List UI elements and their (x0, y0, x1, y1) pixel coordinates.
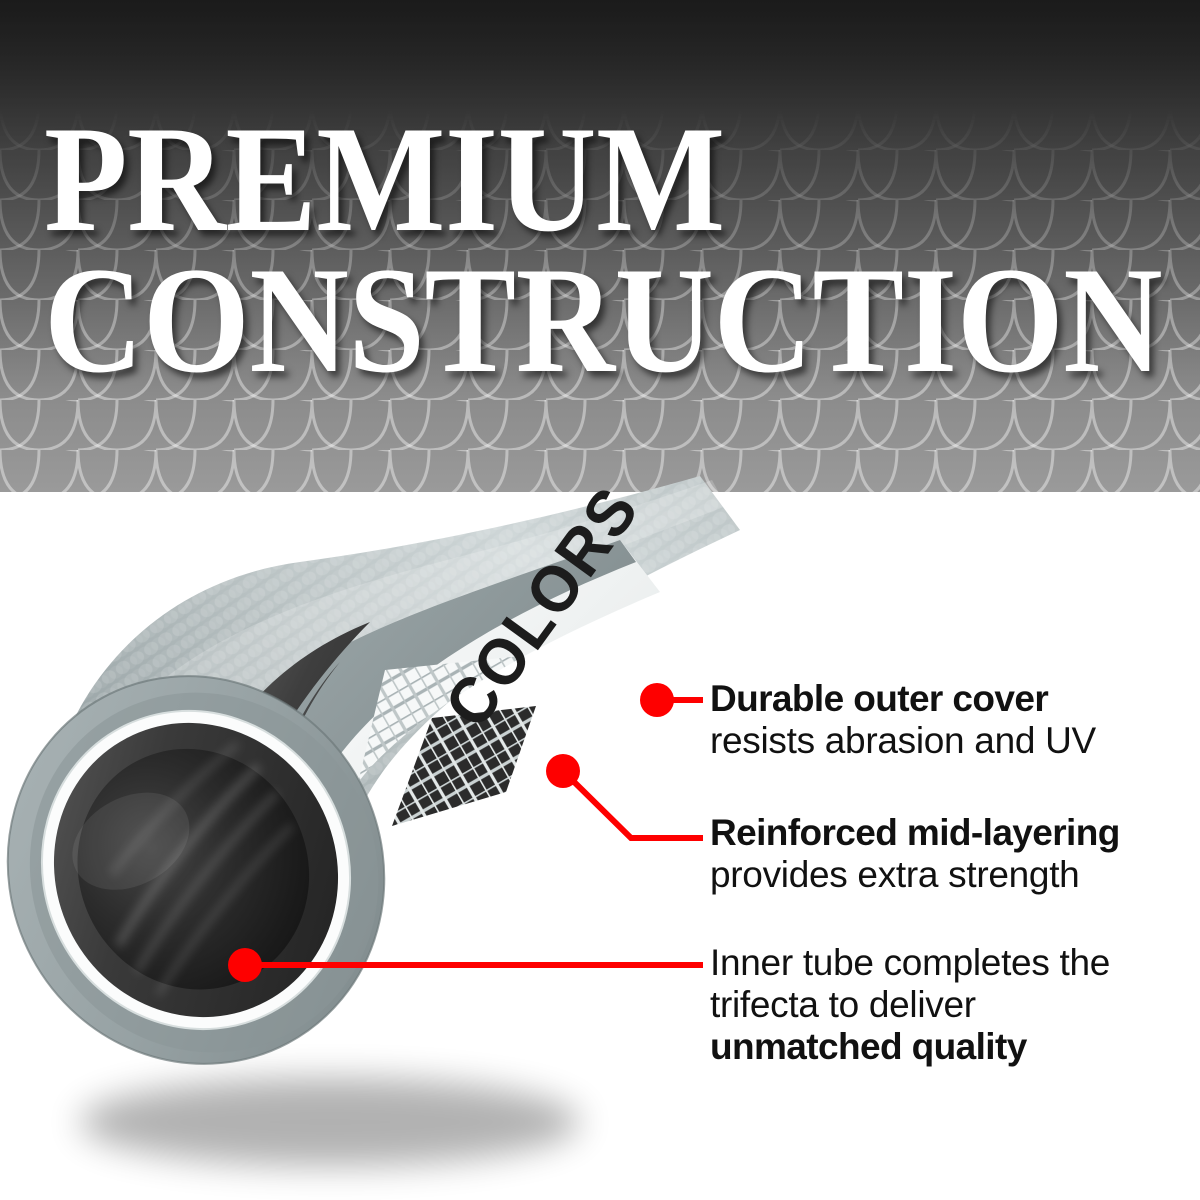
hose-drop-shadow (80, 1078, 580, 1166)
callout-1-line-2: resists abrasion and UV (710, 720, 1200, 762)
callout-3-line-3: unmatched quality (710, 1026, 1200, 1068)
header-banner: PREMIUM CONSTRUCTION (0, 0, 1200, 492)
header-title-block: PREMIUM CONSTRUCTION (0, 0, 1200, 492)
callout-3-line-2: trifecta to deliver (710, 984, 1200, 1026)
page-title-line-2: CONSTRUCTION (44, 233, 1162, 407)
callout-inner-tube: Inner tube completes the trifecta to del… (710, 942, 1200, 1069)
callout-reinforced-mid-layering: Reinforced mid-layering provides extra s… (710, 812, 1200, 896)
callout-1-line-1: Durable outer cover (710, 678, 1200, 720)
callout-2-line-1: Reinforced mid-layering (710, 812, 1200, 854)
callout-durable-outer-cover: Durable outer cover resists abrasion and… (710, 678, 1200, 762)
callout-3-line-1: Inner tube completes the (710, 942, 1200, 984)
hose-cutaway-illustration: COLORS (0, 470, 740, 1200)
callout-2-line-2: provides extra strength (710, 854, 1200, 896)
infographic-page: PREMIUM CONSTRUCTION (0, 0, 1200, 1200)
